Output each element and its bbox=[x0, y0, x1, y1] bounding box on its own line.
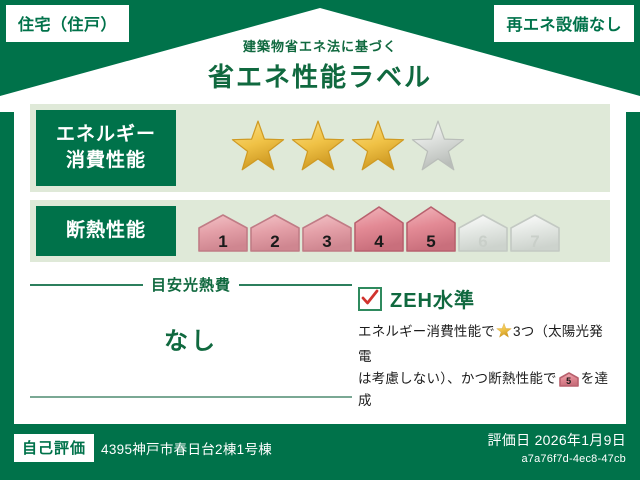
check-icon bbox=[358, 287, 382, 311]
renewable-energy-tag: 再エネ設備なし bbox=[494, 5, 634, 42]
energy-label-line1: エネルギー bbox=[56, 122, 156, 148]
house-icon-5: 5 bbox=[406, 206, 456, 257]
star-icon bbox=[410, 120, 466, 176]
house-icon-2: 2 bbox=[250, 214, 300, 257]
label-footer: 自己評価 4395神戸市春日台2棟1号棟 評価日 2026年1月9日 a7a76… bbox=[0, 424, 640, 480]
footer-left: 自己評価 4395神戸市春日台2棟1号棟 bbox=[14, 434, 272, 462]
star-icon-inline bbox=[496, 327, 512, 342]
insulation-label-text: 断熱性能 bbox=[66, 218, 146, 244]
star-rating bbox=[230, 120, 466, 176]
star-icon bbox=[230, 120, 286, 176]
footer-right: 評価日 2026年1月9日 a7a76f7d-4ec8-47cb bbox=[487, 430, 626, 465]
energy-label-line2: 消費性能 bbox=[66, 148, 146, 174]
utility-cost-block: 目安光熱費 なし bbox=[30, 274, 352, 356]
energy-performance-row: エネルギー 消費性能 bbox=[30, 104, 610, 192]
zeh-heading: ZEH水準 bbox=[358, 284, 616, 313]
utility-cost-heading: 目安光熱費 bbox=[30, 274, 352, 295]
energy-performance-label: 住宅（住戸） 再エネ設備なし 建築物省エネ法に基づく 省エネ性能ラベル エネルギ… bbox=[0, 0, 640, 480]
energy-performance-label: エネルギー 消費性能 bbox=[36, 110, 176, 186]
energy-performance-body bbox=[176, 120, 610, 176]
house-icon-6: 6 bbox=[458, 214, 508, 257]
house-icon-3: 3 bbox=[302, 214, 352, 257]
self-evaluation-badge: 自己評価 bbox=[14, 434, 94, 462]
insulation-level-scale: 1234567 bbox=[198, 206, 560, 257]
insulation-performance-body: 1234567 bbox=[176, 206, 610, 257]
label-card: エネルギー 消費性能 断熱性能 1234567 目安光熱費 bbox=[14, 94, 626, 424]
zeh-desc-part1: エネルギー消費性能で bbox=[358, 324, 495, 339]
star-icon bbox=[290, 120, 346, 176]
house-icon-7: 7 bbox=[510, 214, 560, 257]
heading-rule-left bbox=[30, 284, 143, 286]
zeh-block: ZEH水準 エネルギー消費性能で3つ（太陽光発電 は考慮しない）、かつ断熱性能で… bbox=[358, 284, 616, 411]
utility-cost-heading-text: 目安光熱費 bbox=[151, 274, 231, 295]
label-header: 建築物省エネ法に基づく 省エネ性能ラベル bbox=[0, 36, 640, 94]
evaluation-hash: a7a76f7d-4ec8-47cb bbox=[487, 453, 626, 465]
insulation-performance-label: 断熱性能 bbox=[36, 206, 176, 256]
zeh-description: エネルギー消費性能で3つ（太陽光発電 は考慮しない）、かつ断熱性能で5を達成 bbox=[358, 321, 616, 411]
utility-cost-value: なし bbox=[30, 321, 352, 356]
evaluation-date: 評価日 2026年1月9日 bbox=[487, 430, 626, 450]
insulation-performance-row: 断熱性能 1234567 bbox=[30, 200, 610, 262]
label-title: 省エネ性能ラベル bbox=[0, 57, 640, 94]
house-icon-1: 1 bbox=[198, 214, 248, 257]
house-icon-4: 4 bbox=[354, 206, 404, 257]
lower-section: 目安光熱費 なし ZEH水準 エネルギー消費性能で3つ（太陽光発電 bbox=[14, 270, 626, 424]
star-icon bbox=[350, 120, 406, 176]
zeh-desc-part2: は考慮しない）、かつ断熱性能で bbox=[358, 371, 557, 386]
insulation-level-badge: 5 bbox=[559, 377, 579, 386]
utility-cost-bottom-rule bbox=[30, 396, 352, 398]
housing-type-tag: 住宅（住戸） bbox=[6, 5, 129, 42]
property-address: 4395神戸市春日台2棟1号棟 bbox=[101, 438, 272, 458]
zeh-title: ZEH水準 bbox=[390, 284, 475, 313]
heading-rule-right bbox=[239, 284, 352, 286]
house-icon-inline: 5 bbox=[559, 372, 579, 387]
